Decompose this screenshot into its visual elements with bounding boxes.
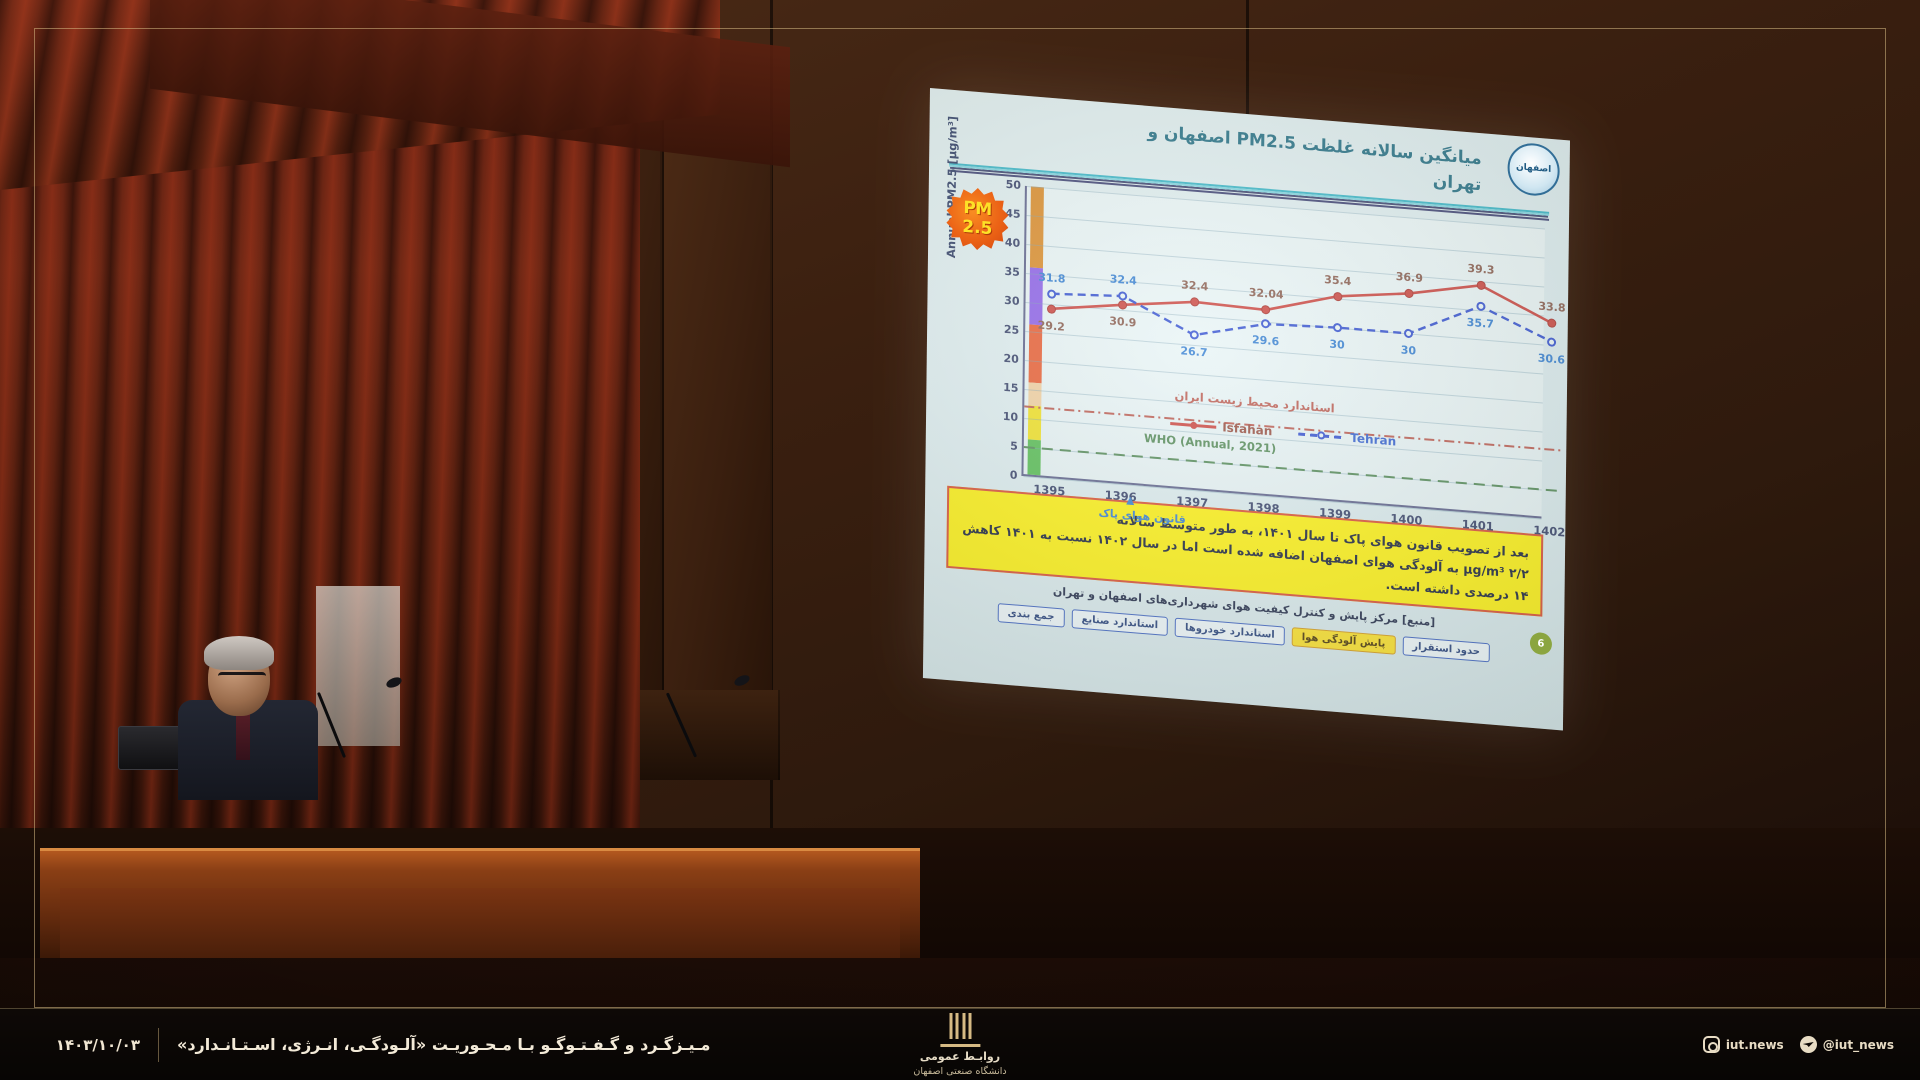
data-point-label: 29.2 — [1038, 318, 1065, 333]
data-point-label: 31.8 — [1038, 270, 1065, 285]
data-point — [1476, 301, 1485, 311]
telegram-label: @iut_news — [1823, 1038, 1894, 1052]
data-point-label: 35.7 — [1467, 316, 1494, 331]
footer-org-name: روابـط عمومی — [920, 1050, 1000, 1063]
y-axis-tick: 50 — [1006, 178, 1027, 193]
screenshot-root: اصفهان میانگین سالانه غلظت PM2.5 اصفهان … — [0, 0, 1920, 1080]
annotation-arrow-icon — [1127, 497, 1135, 506]
emblem-base — [940, 1044, 980, 1047]
data-point — [1119, 301, 1126, 309]
data-point — [1047, 289, 1056, 299]
footer-divider — [158, 1028, 159, 1062]
data-point-label: 33.8 — [1538, 300, 1565, 315]
instagram-icon[interactable] — [1703, 1036, 1720, 1053]
section-chip[interactable]: جمع بندی — [997, 603, 1064, 627]
data-point — [1261, 319, 1270, 329]
data-point — [1406, 290, 1413, 298]
section-chip[interactable]: استاندارد صنایع — [1071, 609, 1168, 636]
instagram-label: iut.news — [1726, 1038, 1784, 1052]
auditorium-photo: اصفهان میانگین سالانه غلظت PM2.5 اصفهان … — [0, 0, 1920, 1080]
data-point — [1333, 323, 1342, 333]
data-point — [1119, 291, 1128, 301]
data-point-label: 30 — [1401, 343, 1416, 357]
data-point-label: 30.6 — [1538, 351, 1565, 366]
data-point-label: 26.7 — [1180, 344, 1207, 359]
presentation-slide: اصفهان میانگین سالانه غلظت PM2.5 اصفهان … — [923, 88, 1570, 730]
y-axis-tick: 35 — [1004, 265, 1025, 280]
section-chip[interactable]: حدود استقرار — [1402, 636, 1490, 662]
legend-swatch — [1170, 422, 1216, 429]
data-point — [1334, 292, 1341, 300]
footer-date: ۱۴۰۳/۱۰/۰۳ — [0, 1036, 140, 1054]
y-axis-tick: 15 — [1003, 381, 1024, 396]
podium-face — [60, 888, 900, 958]
logo-label: اصفهان — [1516, 163, 1551, 176]
wood-panel — [662, 120, 772, 730]
data-point — [1404, 329, 1413, 339]
data-point-label: 35.4 — [1324, 273, 1351, 288]
y-axis-tick: 25 — [1004, 323, 1025, 338]
data-point-label: 32.4 — [1181, 278, 1208, 293]
y-axis-tick: 5 — [1010, 439, 1024, 453]
data-point-label: 30.9 — [1109, 314, 1136, 329]
y-axis-tick: 40 — [1005, 236, 1026, 251]
university-emblem-icon — [943, 1013, 977, 1039]
data-point — [1190, 330, 1199, 340]
y-axis-tick: 45 — [1005, 207, 1026, 222]
data-point — [1048, 305, 1055, 313]
y-axis-tick: 10 — [1003, 410, 1024, 425]
pm-badge-line2: 2.5 — [962, 219, 992, 238]
data-point-label: 32.04 — [1249, 286, 1284, 302]
data-point-label: 30 — [1329, 337, 1344, 351]
speaker-hair — [204, 636, 274, 670]
footer-event-title: مـیـزگـرد و گـفـتـوگـو بـا مـحـوریـت «آل… — [177, 1035, 710, 1054]
chart-lines — [1023, 186, 1566, 520]
section-chip[interactable]: پایش آلودگی هوا — [1292, 627, 1396, 654]
telegram-icon[interactable] — [1800, 1036, 1817, 1053]
data-point-label: 29.6 — [1252, 333, 1279, 348]
data-point — [1547, 337, 1556, 347]
footer-bar: ۱۴۰۳/۱۰/۰۳ مـیـزگـرد و گـفـتـوگـو بـا مـ… — [0, 1008, 1920, 1080]
legend-swatch — [1298, 432, 1344, 439]
data-point-label: 36.9 — [1396, 270, 1423, 285]
projection-screen: اصفهان میانگین سالانه غلظت PM2.5 اصفهان … — [923, 88, 1570, 750]
data-point-label: 32.4 — [1110, 272, 1137, 287]
data-point — [1477, 282, 1484, 290]
y-axis-tick: 30 — [1004, 294, 1025, 309]
speaker-glasses — [218, 672, 266, 683]
data-point — [1262, 306, 1269, 314]
instagram-handle[interactable]: iut.news — [1703, 1036, 1784, 1053]
telegram-handle[interactable]: @iut_news — [1800, 1036, 1894, 1053]
y-axis-tick: 0 — [1010, 468, 1024, 482]
footer-org-subtitle: دانشگاه صنعتی اصفهان — [913, 1066, 1006, 1077]
y-axis-tick: 20 — [1003, 352, 1024, 367]
footer-brand: روابـط عمومی دانشگاه صنعتی اصفهان — [913, 1013, 1006, 1077]
pm25-line-chart: Annual PM2.5 [µg/m³] 0510152025303540455… — [1021, 186, 1544, 519]
section-chip[interactable]: استاندارد خودروها — [1175, 617, 1285, 645]
data-point — [1548, 319, 1555, 327]
footer-social: iut.news @iut_news — [1703, 1036, 1894, 1053]
data-point — [1191, 298, 1198, 306]
data-point-label: 39.3 — [1467, 262, 1494, 277]
